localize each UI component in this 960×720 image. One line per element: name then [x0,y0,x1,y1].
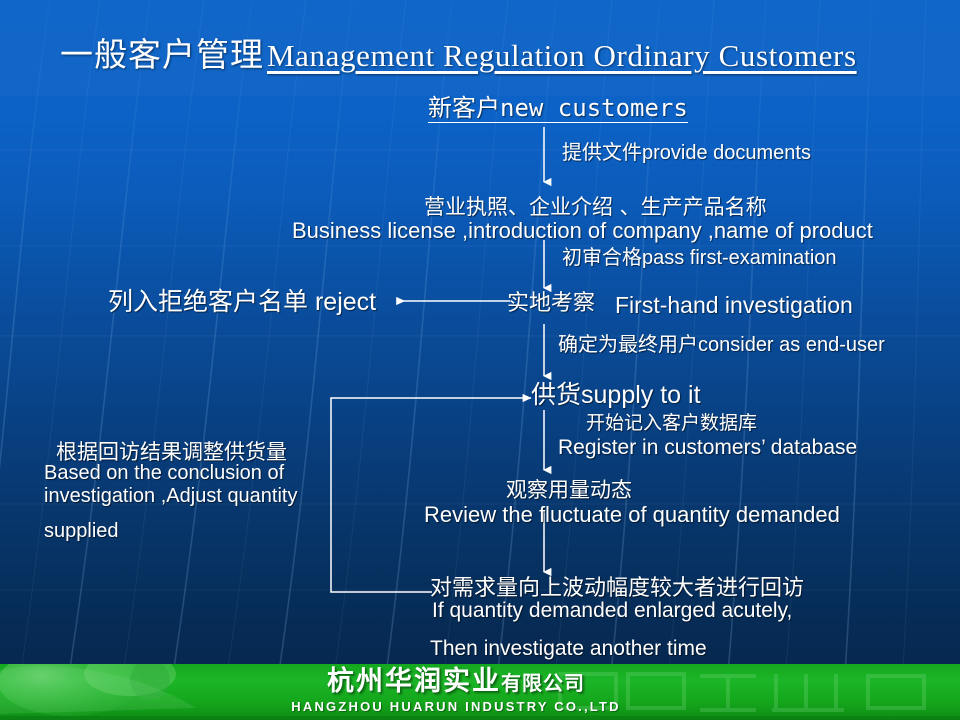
page-title-english: Management Regulation Ordinary Customers [267,38,857,73]
label-consider-end-user-cn: 确定为最终用户 [558,334,698,356]
node-reject-en: reject [315,288,376,316]
label-pass-first-examination-cn: 初审合格 [562,247,642,269]
node-adjust-quantity-cn: 根据回访结果调整供货量 [56,441,287,463]
node-adjust-quantity-en-line1: Based on the conclusion of [44,463,284,484]
node-new-customers-en: new customers [500,94,688,122]
node-new-customers-cn: 新客户 [428,94,500,122]
node-investigate-again-en-line2: Then investigate another time [430,638,707,660]
page-title-chinese: 一般客户管理 [60,35,264,74]
label-provide-documents: 提供文件provide documents [562,142,811,164]
label-consider-end-user-en: consider as end-user [698,334,885,356]
node-review-fluctuate-cn: 观察用量动态 [506,479,632,501]
footer-company-name-main: 杭州华润实业 [327,666,501,697]
node-new-customers: 新客户new customers [428,96,688,123]
node-reject-cn: 列入拒绝客户名单 [108,288,308,316]
node-business-license-en: Business license ,introduction of compan… [292,219,873,242]
node-supply-en: supply to it [581,381,701,409]
footer-banner: 杭州华润实业有限公司 HANGZHOU HUARUN INDUSTRY CO.,… [0,664,960,720]
label-provide-documents-cn: 提供文件 [562,140,642,164]
node-field-investigation-en: First-hand investigation [615,293,853,317]
label-register-database-cn: 开始记入客户数据库 [586,414,757,434]
node-supply-cn: 供货 [531,381,581,409]
node-review-fluctuate-en: Review the fluctuate of quantity demande… [424,503,840,526]
connector-feedback-loop [331,398,531,592]
node-investigate-again-cn: 对需求量向上波动幅度较大者进行回访 [430,577,804,600]
label-provide-documents-en: provide documents [642,142,811,164]
footer-company-name-suffix: 有限公司 [501,671,585,695]
node-business-license-cn: 营业执照、企业介绍 、生产产品名称 [424,196,767,218]
slide-canvas: 一般客户管理Management Regulation Ordinary Cus… [0,0,960,720]
label-register-database-en: Register in customers’ database [558,437,857,459]
page-title: 一般客户管理Management Regulation Ordinary Cus… [60,28,857,76]
label-consider-end-user: 确定为最终用户consider as end-user [558,335,885,356]
label-pass-first-examination: 初审合格pass first-examination [562,248,837,269]
footer-company-block: 杭州华润实业有限公司 HANGZHOU HUARUN INDUSTRY CO.,… [196,668,716,714]
node-field-investigation-cn: 实地考察 [507,292,595,315]
node-reject: 列入拒绝客户名单 reject [108,289,376,315]
footer-company-name-cn: 杭州华润实业有限公司 [196,668,716,695]
label-pass-first-examination-en: pass first-examination [642,247,837,269]
node-supply: 供货supply to it [531,382,701,408]
node-adjust-quantity-en-line2: investigation ,Adjust quantity [44,486,298,507]
node-investigate-again-en-line1: If quantity demanded enlarged acutely, [432,600,792,622]
footer-company-name-en: HANGZHOU HUARUN INDUSTRY CO.,LTD [196,699,716,714]
node-adjust-quantity-en-line3: supplied [44,521,119,542]
